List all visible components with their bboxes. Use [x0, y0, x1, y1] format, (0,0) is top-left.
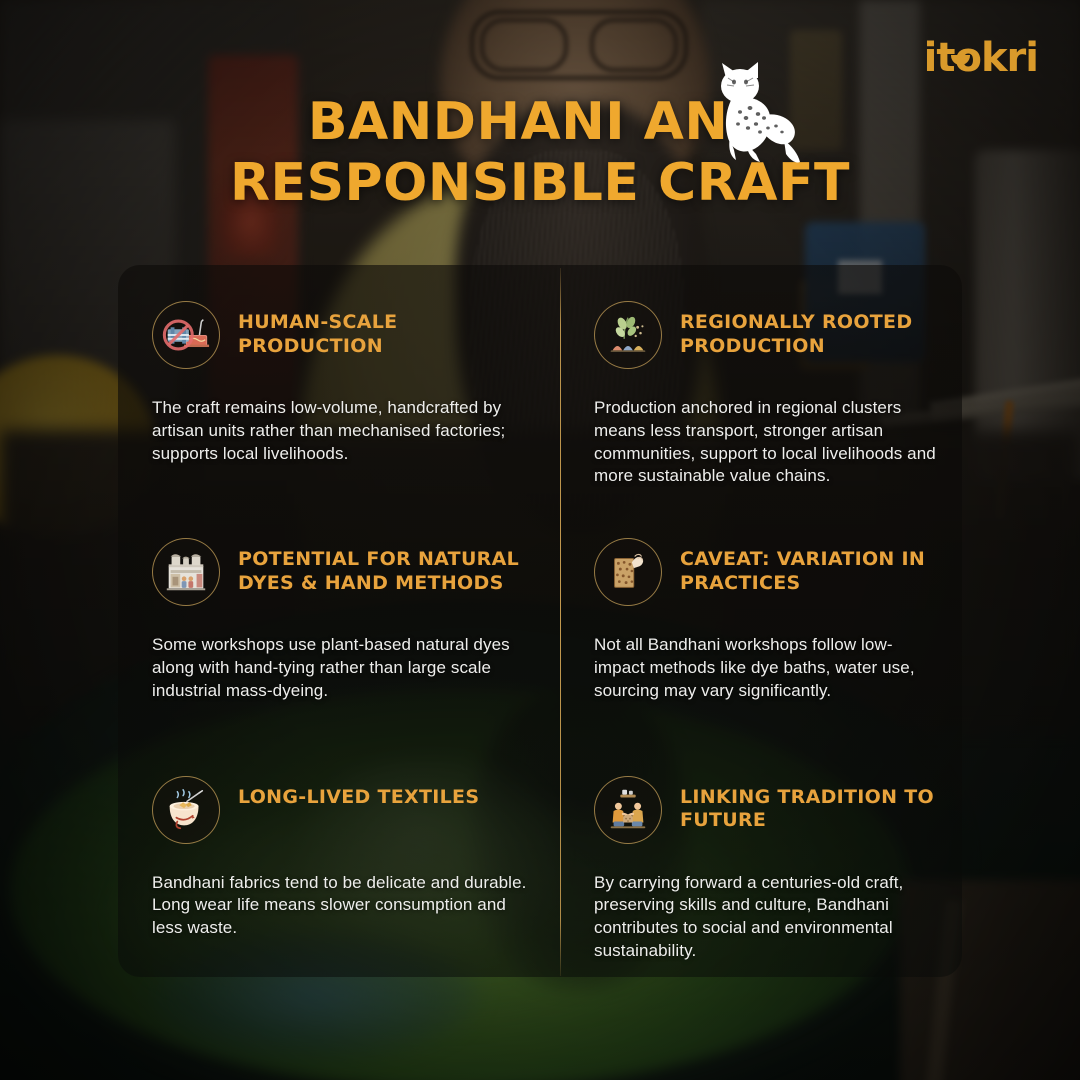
hero-title-block: BANDHANI AND RESPONSIBLE CRAFT: [0, 92, 1080, 215]
card-long-lived-textiles: LONG-LIVED TEXTILES Bandhani fabrics ten…: [118, 740, 560, 977]
card-natural-dyes-hand-methods: POTENTIAL FOR NATURAL DYES & HAND METHOD…: [118, 502, 560, 739]
two-artisans-working-icon: [594, 776, 662, 844]
no-factory-machine-icon: [152, 301, 220, 369]
brand-logo[interactable]: itokri: [924, 38, 1038, 78]
card-header: REGIONALLY ROOTED PRODUCTION: [594, 301, 938, 369]
cards-grid: HUMAN-SCALE PRODUCTION The craft remains…: [118, 265, 962, 977]
card-human-scale-production: HUMAN-SCALE PRODUCTION The craft remains…: [118, 265, 560, 502]
steaming-dye-pot-icon: [152, 776, 220, 844]
card-header: LONG-LIVED TEXTILES: [152, 776, 536, 844]
card-body: The craft remains low-volume, handcrafte…: [152, 397, 536, 465]
plants-and-dye-mounds-icon: [594, 301, 662, 369]
page-title-line-1: BANDHANI AND: [120, 92, 960, 153]
card-header: HUMAN-SCALE PRODUCTION: [152, 301, 536, 369]
card-title: LINKING TRADITION TO FUTURE: [680, 776, 938, 834]
card-body: By carrying forward a centuries-old craf…: [594, 872, 938, 963]
card-title: REGIONALLY ROOTED PRODUCTION: [680, 301, 938, 359]
card-body: Bandhani fabrics tend to be delicate and…: [152, 872, 536, 940]
card-header: POTENTIAL FOR NATURAL DYES & HAND METHOD…: [152, 538, 536, 606]
card-body: Production anchored in regional clusters…: [594, 397, 938, 488]
card-header: LINKING TRADITION TO FUTURE: [594, 776, 938, 844]
card-title: HUMAN-SCALE PRODUCTION: [238, 301, 536, 359]
infographic-poster: itokri BANDHANI AND RESPONSIBLE CRAFT: [0, 0, 1080, 1080]
page-title-line-2: RESPONSIBLE CRAFT: [120, 153, 960, 214]
card-caveat-variation-in-practices: CAVEAT: VARIATION IN PRACTICES Not all B…: [560, 502, 962, 739]
card-linking-tradition-to-future: LINKING TRADITION TO FUTURE By carrying …: [560, 740, 962, 977]
brand-logo-text: itokri: [924, 38, 1038, 78]
card-title: LONG-LIVED TEXTILES: [238, 776, 479, 810]
card-header: CAVEAT: VARIATION IN PRACTICES: [594, 538, 938, 606]
artisan-workshop-building-icon: [152, 538, 220, 606]
card-body: Some workshops use plant-based natural d…: [152, 634, 536, 702]
hand-holding-patterned-fabric-icon: [594, 538, 662, 606]
card-title: CAVEAT: VARIATION IN PRACTICES: [680, 538, 938, 596]
card-body: Not all Bandhani workshops follow low-im…: [594, 634, 938, 702]
card-title: POTENTIAL FOR NATURAL DYES & HAND METHOD…: [238, 538, 536, 596]
white-cat-illustration-icon: [690, 58, 808, 170]
card-regionally-rooted-production: REGIONALLY ROOTED PRODUCTION Production …: [560, 265, 962, 502]
